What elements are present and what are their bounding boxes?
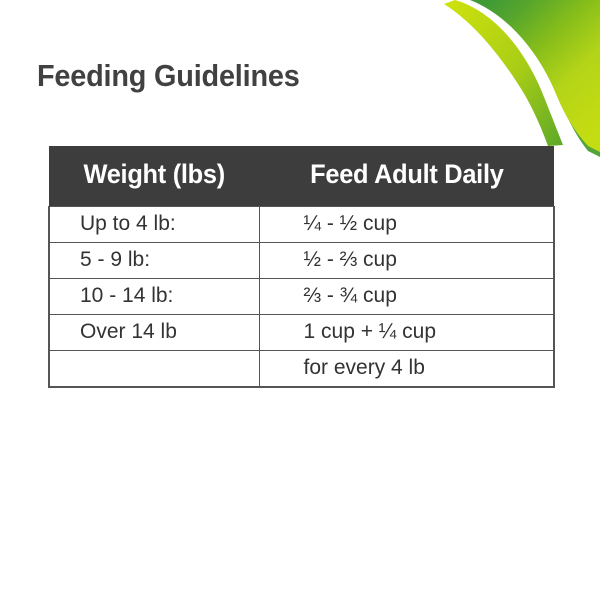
cell-feed: 1 cup + ¼ cup — [259, 315, 554, 351]
column-header-feed-label: Feed Adult Daily — [310, 159, 503, 190]
swoosh-edge-band — [472, 0, 600, 157]
cell-weight: 10 - 14 lb: — [49, 279, 259, 315]
cell-weight-empty — [49, 351, 259, 388]
swoosh-body — [470, 0, 600, 152]
table-row: 10 - 14 lb: ⅔ - ¾ cup — [49, 279, 554, 315]
cell-feed: for every 4 lb — [259, 351, 554, 388]
cell-feed: ¼ - ½ cup — [259, 207, 554, 243]
column-header-weight: Weight (lbs) — [49, 146, 259, 207]
swoosh-upper-sliver — [444, 0, 563, 146]
page-title: Feeding Guidelines — [37, 57, 300, 95]
table-row: for every 4 lb — [49, 351, 554, 388]
feeding-guidelines-table: Weight (lbs) Feed Adult Daily Up to 4 lb… — [48, 146, 555, 388]
column-header-weight-label: Weight (lbs) — [83, 159, 224, 190]
feeding-guidelines-page: Feeding Guidelines Weight (lbs) Feed Adu… — [0, 0, 600, 600]
green-swoosh-decoration — [430, 0, 600, 160]
table-row: 5 - 9 lb: ½ - ⅔ cup — [49, 243, 554, 279]
table-row: Up to 4 lb: ¼ - ½ cup — [49, 207, 554, 243]
cell-feed: ⅔ - ¾ cup — [259, 279, 554, 315]
cell-feed: ½ - ⅔ cup — [259, 243, 554, 279]
column-header-feed: Feed Adult Daily — [259, 146, 554, 207]
table-row: Over 14 lb 1 cup + ¼ cup — [49, 315, 554, 351]
table-header-row: Weight (lbs) Feed Adult Daily — [49, 146, 554, 207]
cell-weight: Over 14 lb — [49, 315, 259, 351]
cell-weight: Up to 4 lb: — [49, 207, 259, 243]
cell-weight: 5 - 9 lb: — [49, 243, 259, 279]
